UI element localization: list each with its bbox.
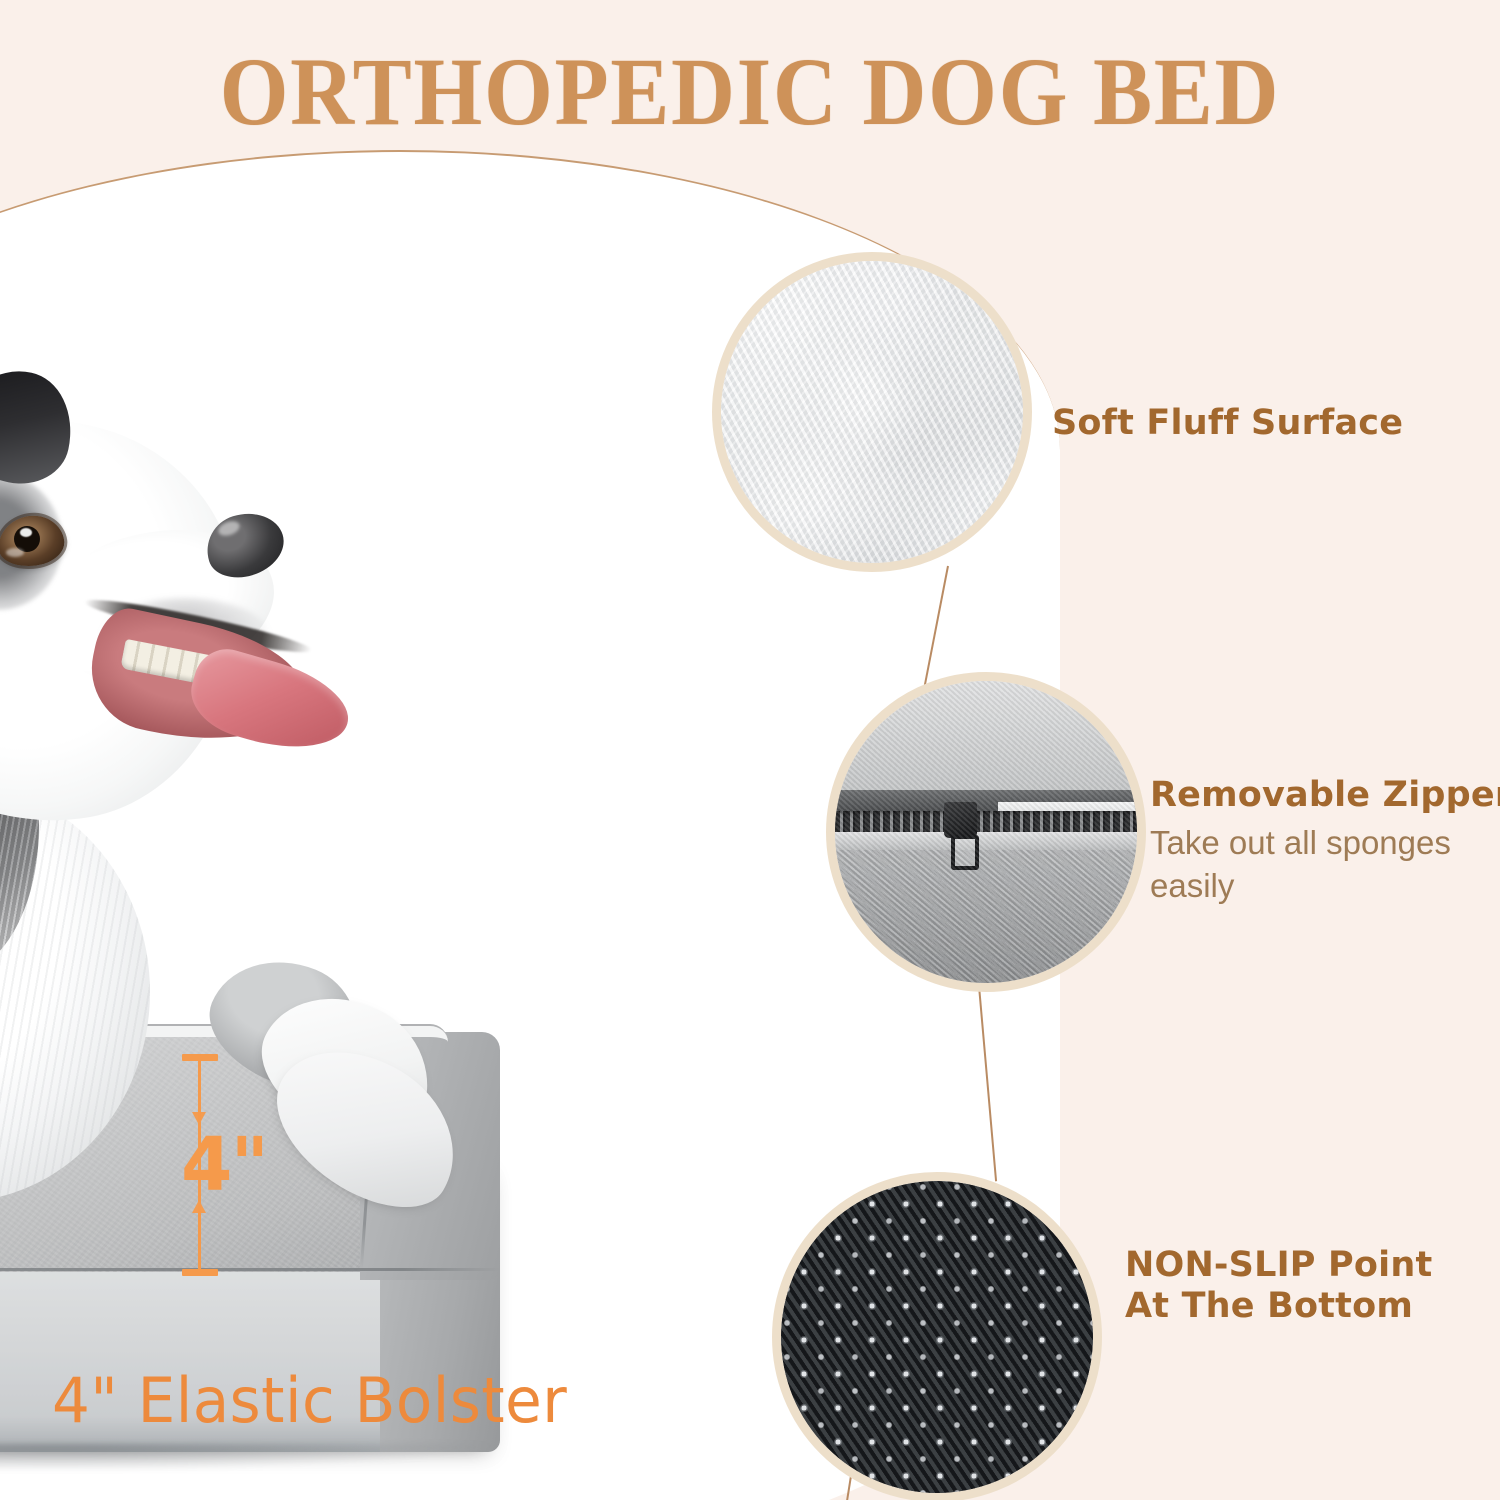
dog-eye-highlight	[20, 528, 32, 537]
dog-eye-highlight-secondary	[6, 548, 24, 557]
feature-label-soft-fluff: Soft Fluff Surface	[1052, 403, 1403, 444]
feature-title-soft-fluff: Soft Fluff Surface	[1052, 403, 1403, 444]
feature-swatch-non-slip[interactable]	[772, 1172, 1102, 1500]
bolster-height-dimension: 4"	[170, 1050, 290, 1280]
feature-label-removable-zipper: Removable Zipper Take out all sponges ea…	[1150, 775, 1480, 908]
dimension-value: 4"	[164, 1128, 284, 1202]
feature-title-non-slip-line1: NON-SLIP Point	[1125, 1245, 1432, 1286]
feature-swatch-soft-fluff[interactable]	[712, 252, 1032, 572]
bed-shadow	[0, 1444, 490, 1470]
infographic-canvas: ORTHOPEDIC DOG BED	[0, 0, 1500, 1500]
fluff-strands-overlay	[721, 261, 1023, 563]
feature-subtitle-removable-zipper: Take out all sponges easily	[1150, 822, 1480, 908]
bolster-caption: 4" Elastic Bolster	[52, 1370, 567, 1432]
feature-title-non-slip-line2: At The Bottom	[1125, 1286, 1432, 1327]
feature-swatch-removable-zipper[interactable]	[826, 672, 1146, 992]
feature-label-non-slip: NON-SLIP Point At The Bottom	[1125, 1245, 1432, 1328]
dog-tongue	[182, 642, 358, 765]
page-title: ORTHOPEDIC DOG BED	[60, 44, 1440, 140]
feature-title-removable-zipper: Removable Zipper	[1150, 775, 1480, 816]
dimension-cap-bottom	[182, 1269, 218, 1276]
zipper-fabric-weave	[835, 681, 1137, 983]
grip-dots-secondary	[781, 1181, 1093, 1493]
